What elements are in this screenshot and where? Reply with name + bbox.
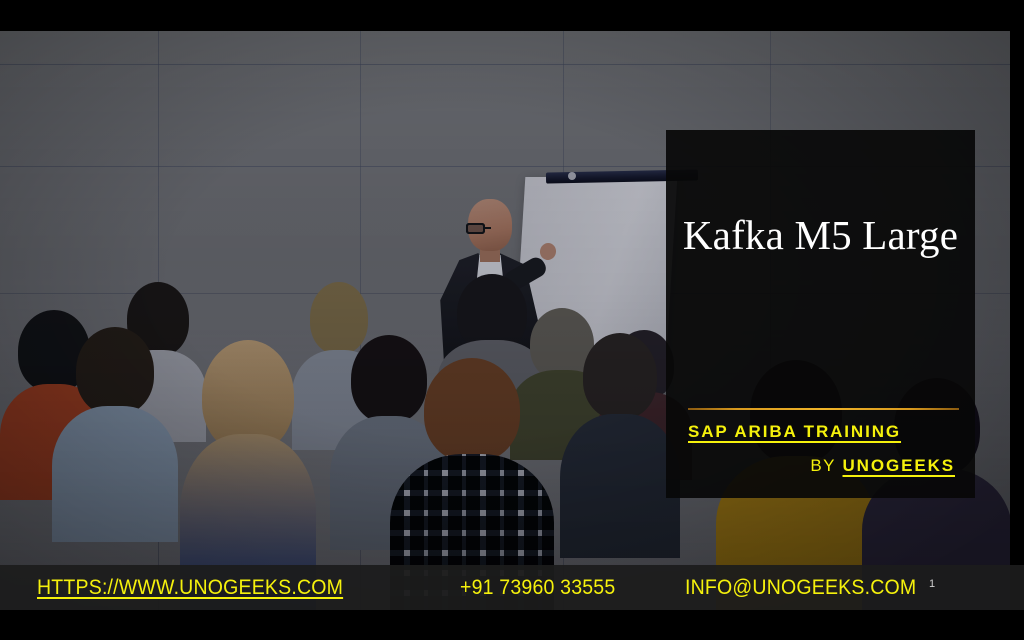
title-card: Kafka M5 Large SAP ARIBA TRAINING BY UNO… (666, 130, 975, 498)
website-link[interactable]: HTTPS://WWW.UNOGEEKS.COM (37, 576, 343, 600)
letterbox-top (0, 0, 1024, 31)
page-title: Kafka M5 Large (666, 212, 975, 259)
letterbox-right (1010, 31, 1024, 565)
subtitle-byline: BY UNOGEEKS (810, 456, 955, 476)
email-address: INFO@UNOGEEKS.COM (685, 576, 916, 600)
contact-bar: HTTPS://WWW.UNOGEEKS.COM +91 73960 33555… (0, 565, 1024, 610)
brand-name: UNOGEEKS (843, 456, 956, 475)
gold-divider (688, 408, 959, 410)
page-number: 1 (929, 579, 935, 590)
byline-prefix: BY (810, 456, 835, 475)
subtitle-course: SAP ARIBA TRAINING (688, 422, 901, 442)
phone-number: +91 73960 33555 (460, 576, 615, 600)
letterbox-bottom (0, 610, 1024, 640)
slide-stage: Kafka M5 Large SAP ARIBA TRAINING BY UNO… (0, 0, 1024, 640)
